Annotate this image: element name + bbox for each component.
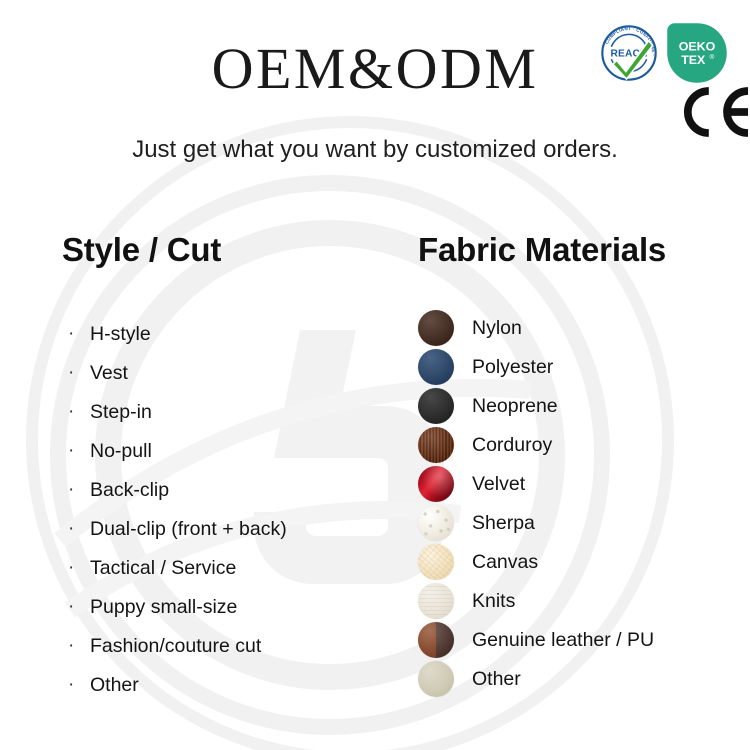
bullet-icon: · [62,519,90,538]
fabric-label: Nylon [472,316,522,340]
list-item[interactable]: Other [418,659,748,698]
svg-text:®: ® [709,53,714,61]
fabric-swatch-icon [418,661,454,697]
style-cut-label: Step-in [90,400,152,424]
fabric-materials-list: Nylon Polyester Neoprene Corduroy Velvet [418,308,748,698]
bullet-icon: · [62,363,90,382]
fabric-swatch-icon [418,544,454,580]
fabric-swatch-icon [418,427,454,463]
style-cut-label: Dual-clip (front + back) [90,517,287,541]
bullet-icon: · [62,558,90,577]
fabric-swatch-icon [418,349,454,385]
style-cut-label: No-pull [90,439,152,463]
fabric-label: Knits [472,589,515,613]
style-cut-list: · H-style · Vest · Step-in · No-pull · [62,314,402,704]
fabric-label: Polyester [472,355,553,379]
fabric-label: Sherpa [472,511,535,535]
list-item[interactable]: · Vest [62,353,402,392]
svg-text:OEKO: OEKO [679,40,716,54]
bullet-icon: · [62,441,90,460]
certification-badges: COMPLIANT · CONFORME · REACH OEKO TEX ® [590,12,750,142]
bullet-icon: · [62,597,90,616]
list-item[interactable]: · H-style [62,314,402,353]
list-item[interactable]: Neoprene [418,386,748,425]
style-cut-label: H-style [90,322,151,346]
fabric-label: Canvas [472,550,538,574]
header: OEM&ODM Just get what you want by custom… [0,0,750,200]
list-item[interactable]: · Other [62,665,402,704]
list-item[interactable]: · Fashion/couture cut [62,626,402,665]
bullet-icon: · [62,324,90,343]
fabric-label: Other [472,667,521,691]
fabric-swatch-icon [418,622,454,658]
reach-certification-icon: COMPLIANT · CONFORME · REACH [598,22,660,84]
list-item[interactable]: · Tactical / Service [62,548,402,587]
style-cut-label: Tactical / Service [90,556,236,580]
fabric-label: Corduroy [472,433,552,457]
fabric-swatch-icon [418,583,454,619]
list-item[interactable]: Genuine leather / PU [418,620,748,659]
fabric-materials-column: Fabric Materials Nylon Polyester Neopren… [418,230,748,698]
fabric-materials-heading: Fabric Materials [418,230,748,270]
list-item[interactable]: Nylon [418,308,748,347]
fabric-swatch-icon [418,310,454,346]
style-cut-label: Fashion/couture cut [90,634,261,658]
fabric-label: Velvet [472,472,525,496]
style-cut-label: Back-clip [90,478,169,502]
list-item[interactable]: Sherpa [418,503,748,542]
fabric-label: Neoprene [472,394,558,418]
list-item[interactable]: · Back-clip [62,470,402,509]
list-item[interactable]: Corduroy [418,425,748,464]
fabric-swatch-icon [418,466,454,502]
options-columns: Style / Cut · H-style · Vest · Step-in ·… [0,230,750,730]
oeko-tex-certification-icon: OEKO TEX ® [666,22,728,84]
bullet-icon: · [62,402,90,421]
style-cut-label: Puppy small-size [90,595,237,619]
list-item[interactable]: Polyester [418,347,748,386]
list-item[interactable]: Knits [418,581,748,620]
bullet-icon: · [62,636,90,655]
bullet-icon: · [62,480,90,499]
svg-text:TEX: TEX [681,53,706,67]
list-item[interactable]: Canvas [418,542,748,581]
list-item[interactable]: · Dual-clip (front + back) [62,509,402,548]
list-item[interactable]: Velvet [418,464,748,503]
style-cut-label: Other [90,673,139,697]
style-cut-label: Vest [90,361,128,385]
bullet-icon: · [62,675,90,694]
style-cut-heading: Style / Cut [62,230,402,270]
fabric-label: Genuine leather / PU [472,628,654,652]
fabric-swatch-icon [418,505,454,541]
style-cut-column: Style / Cut · H-style · Vest · Step-in ·… [62,230,402,704]
list-item[interactable]: · Step-in [62,392,402,431]
ce-mark-icon [678,86,748,138]
fabric-swatch-icon [418,388,454,424]
list-item[interactable]: · No-pull [62,431,402,470]
page-root: OEM&ODM Just get what you want by custom… [0,0,750,750]
list-item[interactable]: · Puppy small-size [62,587,402,626]
